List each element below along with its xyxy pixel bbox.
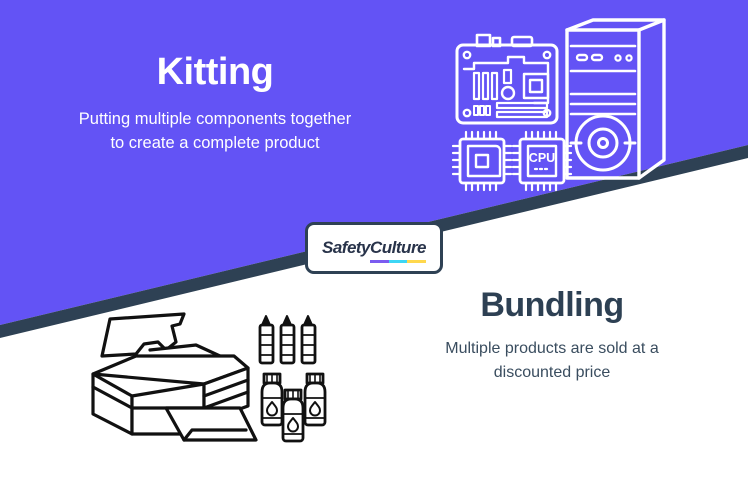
underline-segment-cyan <box>389 260 408 264</box>
safetyculture-logo-badge: SafetyCulture <box>305 222 443 274</box>
bundling-description-line-2: discounted price <box>494 364 611 381</box>
kitting-description: Putting multiple components together to … <box>20 108 410 156</box>
safetyculture-logo-text: SafetyCulture <box>322 238 426 257</box>
inkjet-printer-icon <box>93 314 256 440</box>
bundling-title: Bundling <box>372 287 732 324</box>
kitting-title: Kitting <box>20 52 410 94</box>
cpu-chip-label: CPU <box>529 151 555 165</box>
bundling-text-block: Bundling Multiple products are sold at a… <box>372 287 732 384</box>
chip-icon <box>453 132 511 190</box>
underline-segment-purple <box>370 260 389 264</box>
ink-bottle-icon <box>262 374 325 441</box>
ink-cartridge-icon <box>260 316 315 363</box>
underline-segment-yellow <box>407 260 426 264</box>
logo-wrap: SafetyCulture <box>322 239 426 257</box>
motherboard-icon <box>457 35 557 123</box>
logo-gradient-underline <box>370 260 426 264</box>
computer-components-illustration: CPU <box>452 22 676 187</box>
pc-tower-icon <box>567 20 664 178</box>
cpu-chip-icon: CPU <box>513 132 571 190</box>
bundling-description: Multiple products are sold at a discount… <box>372 337 732 383</box>
infographic-canvas: Kitting Putting multiple components toge… <box>0 0 748 480</box>
kitting-description-line-2: to create a complete product <box>110 134 319 152</box>
printer-and-ink-illustration <box>88 312 338 454</box>
kitting-description-line-1: Putting multiple components together <box>79 110 351 128</box>
kitting-text-block: Kitting Putting multiple components toge… <box>20 52 410 156</box>
bundling-description-line-1: Multiple products are sold at a <box>445 340 658 357</box>
